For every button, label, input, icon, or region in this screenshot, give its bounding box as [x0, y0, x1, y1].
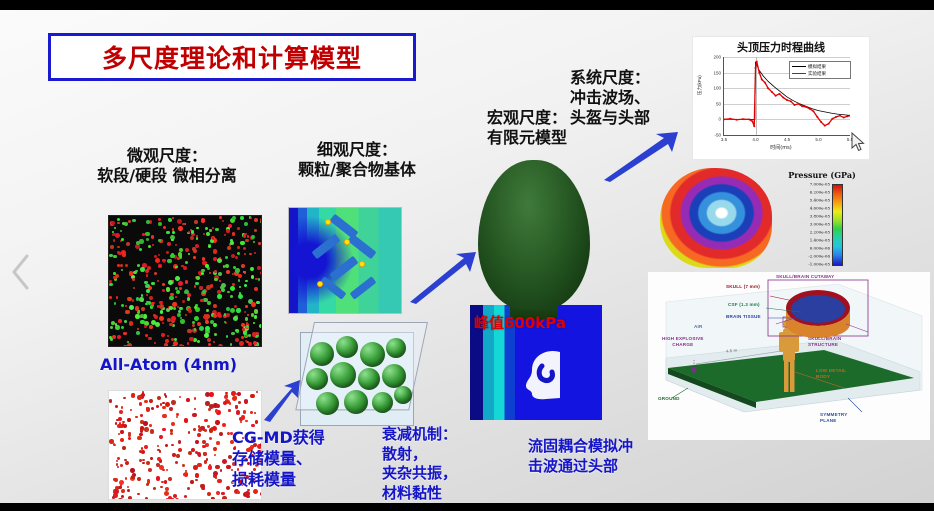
mesoscale-wave-field [288, 207, 402, 314]
blast-label-air: AIR [694, 324, 703, 330]
colorbar-title: Pressure (GPa) [776, 170, 868, 180]
chart-title: 头顶压力时程曲线 [693, 39, 869, 55]
previous-slide-chevron-icon[interactable] [8, 252, 34, 292]
chart-legend-item: 实验结果 [792, 70, 848, 77]
colorbar-tick: -2.000e-06 [808, 254, 830, 259]
chart-y-tick: 200 [713, 55, 721, 60]
colorbar-tick: 6.000e-06 [810, 246, 830, 251]
legend-swatch [792, 66, 806, 67]
colorbar-tick: -1.000e-05 [808, 262, 830, 267]
blast-label-cutaway: SKULL/BRAIN CUTAWAY [776, 274, 834, 280]
colorbar-tick: 3.800e-05 [810, 214, 830, 219]
legend-swatch [792, 73, 806, 74]
caption-attenuation: 衰减机制： 散射， 夹杂共振， 材料黏性 [382, 425, 457, 503]
arrow-micro-to-meso [262, 378, 302, 424]
head-profile-icon [516, 342, 578, 404]
chart-legend-item: 模拟结果 [792, 63, 848, 70]
caption-fsi: 流固耦合模拟冲 击波通过头部 [528, 437, 633, 476]
colorbar-tick: 2.200e-05 [810, 230, 830, 235]
arrow-meso-to-macro [408, 250, 478, 306]
blast-schematic-graphic [648, 272, 930, 440]
chart-y-tick: 100 [713, 86, 721, 91]
mouse-cursor [851, 132, 865, 152]
chart-y-tick: 0 [718, 117, 721, 122]
peak-pressure-label: 峰值600kPa [474, 312, 566, 333]
page-title: 多尺度理论和计算模型 [102, 39, 362, 75]
colorbar-tick: 6.200e-05 [810, 190, 830, 195]
letterbox-top [0, 0, 934, 10]
colorbar-tick: 7.000e-05 [810, 182, 830, 187]
chart-x-tick: 4.5 [784, 137, 790, 142]
blast-label-ground: GROUND [658, 396, 680, 402]
blast-label-brain: BRAIN TISSUE [726, 314, 761, 320]
label-system-scale: 系统尺度： 冲击波场、 头盔与头部 [570, 68, 700, 128]
blast-label-charge: HIGH EXPLOSIVE CHARGE [662, 336, 704, 347]
chart-x-tick: 4.0 [752, 137, 758, 142]
label-micro-scale: 微观尺度： 软段/硬段 微相分离 [72, 146, 262, 186]
colorbar-gradient [832, 184, 843, 266]
chart-legend: 模拟结果实验结果 [789, 61, 851, 79]
colorbar-tick: 5.400e-05 [810, 198, 830, 203]
chart-x-tick: 5.0 [815, 137, 821, 142]
head-finite-element-model: 峰值600kPa [470, 160, 602, 420]
arrow-macro-to-system [602, 130, 680, 184]
chart-x-tick: 3.5 [721, 137, 727, 142]
legend-label: 实验结果 [808, 71, 826, 77]
blast-label-structure: SKULL/BRAIN STRUCTURE [808, 336, 841, 347]
label-meso-scale: 细观尺度： 颗粒/聚合物基体 [272, 140, 442, 180]
colorbar-tick: 4.600e-05 [810, 206, 830, 211]
slide-title-box: 多尺度理论和计算模型 [48, 33, 416, 81]
letterbox-bottom [0, 503, 934, 511]
head-mesh [478, 160, 590, 310]
mesoscale-particle-cube [290, 320, 432, 435]
blast-label-symmetry: SYMMETRY PLANE [820, 412, 847, 423]
chart-x-axis-label: 时间(ms) [693, 144, 869, 151]
all-atom-md-snapshot [108, 215, 262, 347]
chart-gridline [724, 135, 850, 136]
chart-y-tick: 150 [713, 70, 721, 75]
caption-all-atom: All-Atom (4nm) [100, 355, 237, 376]
blast-label-csf: CSF (1.3 mm) [728, 302, 760, 308]
pressure-time-history-chart: 头顶压力时程曲线 压力(kPa) 200150100500-503.54.04.… [692, 36, 870, 160]
blast-label-body: LOW DETAIL BODY [816, 368, 846, 379]
legend-label: 模拟结果 [808, 64, 826, 70]
colorbar-tick: 1.400e-05 [810, 238, 830, 243]
blast-simulation-schematic: AIR HIGH EXPLOSIVE CHARGE GROUND 4.5 m S… [648, 272, 930, 440]
caption-cgmd: CG-MD获得 存储模量、 损耗模量 [232, 428, 325, 490]
slide-canvas: 多尺度理论和计算模型 微观尺度： 软段/硬段 微相分离 细观尺度： 颗粒/聚合物… [0, 0, 934, 511]
colorbar-tick: 3.000e-05 [810, 222, 830, 227]
pressure-colorbar: Pressure (GPa) 7.000e-056.200e-055.400e-… [776, 170, 868, 268]
blast-label-skull: SKULL (7 mm) [726, 284, 760, 290]
chart-y-tick: 50 [716, 101, 721, 106]
